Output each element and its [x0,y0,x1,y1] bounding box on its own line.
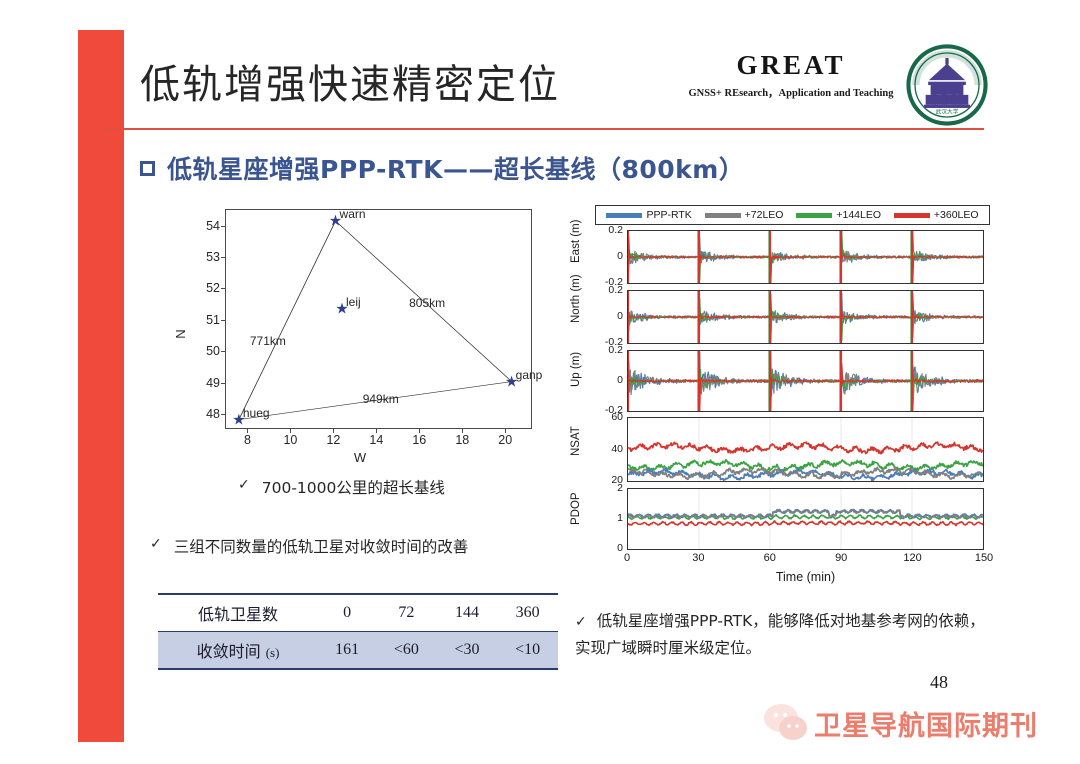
left-accent-bar [78,30,124,742]
map-x-tick: 12 [326,433,340,447]
legend-label: +144LEO [836,209,881,221]
panel-y-tick: 0.2 [587,224,623,236]
map-x-tick-mark [333,428,334,433]
check-icon: ✓ [238,476,250,495]
bullet-conclusion: ✓低轨星座增强PPP-RTK，能够降低对地基参考网的依赖，实现广域瞬时厘米级定位… [575,608,995,662]
legend-item-0[interactable]: PPP-RTK [606,209,691,221]
chart-x-tick: 30 [692,552,704,564]
map-station-label: warn [340,207,366,221]
page-number: 48 [930,672,948,693]
table-header-value-3: 360 [497,594,558,632]
bullet-baseline-note: ✓ 700-1000公里的超长基线 [238,476,445,498]
series-line-+360LEO [628,521,983,526]
station-network-map: N 484950515253548101214161820771km805km9… [180,205,540,463]
map-baseline-edge [239,221,336,420]
map-x-tick: 18 [455,433,469,447]
panel-plot [628,231,983,283]
table-cell-value-1: <60 [376,632,437,670]
panel-plot [628,291,983,343]
map-station-label: ganp [516,368,543,382]
table-header-value-0: 0 [318,594,376,632]
slide-canvas: 低轨增强快速精密定位 GREAT GNSS+ REsearch，Applicat… [0,0,1080,764]
table-cell-value-2: <30 [437,632,498,670]
panel-y-tick: 0.2 [587,284,623,296]
legend-swatch-icon [705,213,741,218]
university-seal-icon: 武汉大学 [906,44,988,126]
map-x-tick: 14 [369,433,383,447]
panel-y-tick: 0 [587,542,623,554]
chart-x-axis-label: Time (min) [627,570,984,584]
section-subtitle-row: 低轨星座增强PPP-RTK——超长基线（800km） [140,150,744,186]
table-row: 收敛时间 (s) 161 <60 <30 <10 [158,632,558,670]
map-y-tick-mark [221,226,226,227]
map-y-tick-mark [221,320,226,321]
map-y-tick-mark [221,383,226,384]
map-x-tick-mark [247,428,248,433]
map-x-axis-label: W [180,450,540,465]
panel-y-axis-label: NSAT [570,442,582,456]
square-bullet-icon [140,161,155,176]
map-station-label: leij [346,295,361,309]
great-logo-subtitle: GNSS+ REsearch，Application and Teaching [676,85,906,100]
table-header-value-2: 144 [437,594,498,632]
panel-y-tick: 0 [587,310,623,322]
map-y-tick-mark [221,257,226,258]
panel-plot [628,351,983,411]
panel-y-tick: 60 [587,411,623,423]
map-y-tick: 54 [206,219,220,233]
legend-swatch-icon [894,213,930,218]
map-y-tick-mark [221,351,226,352]
map-y-axis-label: N [173,329,188,338]
series-line-+360LEO [628,442,983,454]
chart-panel-pdop [627,488,984,550]
chart-x-tick: 120 [903,552,921,564]
map-y-tick-mark [221,288,226,289]
map-x-tick-mark [376,428,377,433]
table-header-label: 低轨卫星数 [158,594,318,632]
panel-y-axis-label: PDOP [570,511,582,525]
map-y-tick: 48 [206,407,220,421]
map-y-tick: 52 [206,281,220,295]
chart-panel-nsat [627,417,984,482]
panel-y-axis-label: East (m) [570,249,582,263]
chart-legend: PPP-RTK+72LEO+144LEO+360LEO [595,205,990,225]
page-title: 低轨增强快速精密定位 [140,52,560,110]
table-row-label: 收敛时间 (s) [158,632,318,670]
legend-item-1[interactable]: +72LEO [705,209,784,221]
map-distance-label: 949km [363,392,399,406]
section-subtitle: 低轨星座增强PPP-RTK——超长基线（800km） [167,150,744,186]
chart-panel-upm [627,350,984,412]
legend-label: +360LEO [934,209,979,221]
panel-y-axis-label: North (m) [570,309,582,323]
chart-x-tick: 90 [835,552,847,564]
table-header-value-1: 72 [376,594,437,632]
legend-item-3[interactable]: +360LEO [894,209,979,221]
panel-y-tick: 0 [587,250,623,262]
legend-swatch-icon [606,213,642,218]
map-x-tick-mark [419,428,420,433]
great-logo-main: GREAT [676,52,906,79]
map-distance-label: 771km [250,334,286,348]
legend-label: PPP-RTK [646,209,691,221]
series-line-PPP-RTK [628,351,983,394]
chart-panel-eastm [627,230,984,284]
timeseries-chart: PPP-RTK+72LEO+144LEO+360LEO East (m)0.20… [565,205,990,595]
map-x-tick-mark [290,428,291,433]
series-line-+360LEO [628,294,983,341]
watermark: 卫星导航国际期刊 [762,700,1062,746]
chart-x-tick: 0 [624,552,630,564]
check-icon: ✓ [150,535,162,554]
map-y-tick-mark [221,414,226,415]
watermark-text: 卫星导航国际期刊 [814,704,1038,743]
bullet-table-note: ✓ 三组不同数量的低轨卫星对收敛时间的改善 [150,535,468,557]
map-y-tick: 49 [206,376,220,390]
check-icon: ✓ [575,614,587,630]
legend-item-2[interactable]: +144LEO [796,209,881,221]
map-x-tick-mark [462,428,463,433]
table-row-label-text: 收敛时间 [197,642,261,661]
map-y-tick: 53 [206,250,220,264]
map-x-tick: 20 [498,433,512,447]
left-column: N 484950515253548101214161820771km805km9… [150,205,560,463]
map-distance-label: 805km [409,296,445,310]
chart-x-tick: 150 [975,552,993,564]
table-cell-value-3: <10 [497,632,558,670]
table-cell-value-0: 161 [318,632,376,670]
table-row-unit: (s) [266,645,280,660]
map-y-tick: 51 [206,313,220,327]
panel-y-tick: 0 [587,374,623,386]
map-x-tick: 8 [244,433,251,447]
map-x-tick-mark [505,428,506,433]
table-row: 低轨卫星数 0 72 144 360 [158,594,558,632]
legend-swatch-icon [796,213,832,218]
chart-panel-northm [627,290,984,344]
map-x-tick: 16 [412,433,426,447]
series-line-+360LEO [628,231,983,283]
bullet-baseline-text: 700-1000公里的超长基线 [262,476,445,498]
convergence-table: 低轨卫星数 0 72 144 360 收敛时间 (s) 161 <60 <30 … [158,593,558,670]
great-logo: GREAT GNSS+ REsearch，Application and Tea… [676,52,906,100]
panel-y-axis-label: Up (m) [570,373,582,387]
panel-y-tick: 1 [587,512,623,524]
map-station-label: hueg [243,406,270,420]
panel-y-tick: 2 [587,482,623,494]
legend-label: +72LEO [745,209,784,221]
map-y-tick: 50 [206,344,220,358]
bullet-table-text: 三组不同数量的低轨卫星对收敛时间的改善 [174,535,469,557]
bullet-conclusion-text: 低轨星座增强PPP-RTK，能够降低对地基参考网的依赖，实现广域瞬时厘米级定位。 [575,612,985,657]
panel-y-tick: 0.2 [587,344,623,356]
map-x-tick: 10 [283,433,297,447]
svg-text:武汉大学: 武汉大学 [936,108,959,116]
panel-plot [628,489,983,549]
chart-x-tick: 60 [764,552,776,564]
panel-plot [628,418,983,481]
panel-y-tick: 40 [587,443,623,455]
map-plot-area: 484950515253548101214161820771km805km949… [225,209,532,429]
title-divider [104,128,984,130]
wechat-icon [762,702,810,744]
